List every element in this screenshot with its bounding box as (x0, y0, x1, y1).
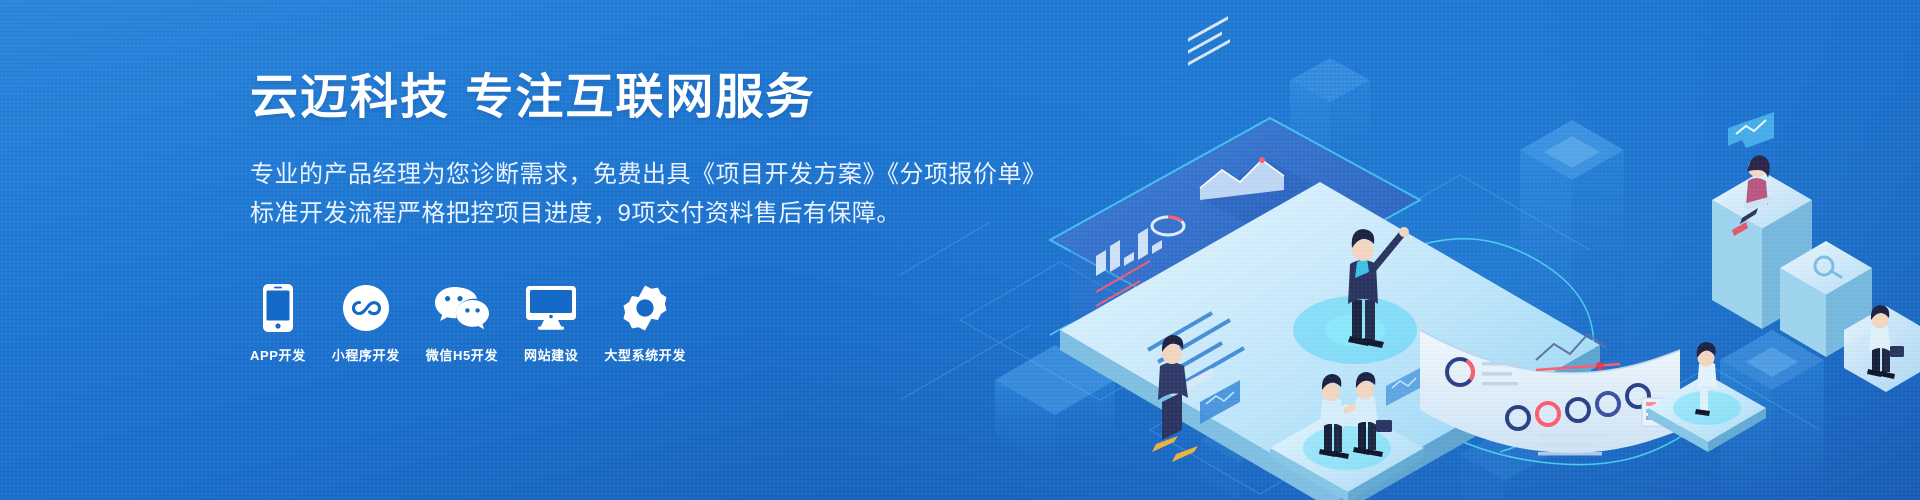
wechat-icon (434, 283, 490, 333)
chart-bubble (1728, 112, 1774, 148)
data-report-scroll (1420, 330, 1684, 456)
service-item-app[interactable]: APP开发 (250, 283, 306, 364)
gear-icon (622, 283, 668, 333)
isometric-city-buildings (995, 58, 1824, 500)
person-presenting (1348, 227, 1409, 348)
service-label: 小程序开发 (332, 345, 400, 364)
glowing-connection-paths (1050, 239, 1700, 465)
two-people-conversation (1270, 372, 1424, 500)
service-item-mini-program[interactable]: 小程序开发 (332, 283, 400, 364)
subtitle-line-2: 标准开发流程严格把控项目进度，9项交付资料售后有保障。 (250, 194, 1010, 234)
banner-subtitle: 专业的产品经理为您诊断需求，免费出具《项目开发方案》《分项报价单》 标准开发流程… (250, 155, 1010, 234)
woman-on-tablet-platform (1648, 342, 1766, 452)
person-with-laptop-on-pedestal (1152, 335, 1214, 462)
floating-dashboard-screen (1050, 0, 1420, 325)
floating-ui-chips (1200, 368, 1420, 424)
service-label: 大型系统开发 (604, 345, 686, 364)
hero-banner: 云迈科技 专注互联网服务 专业的产品经理为您诊断需求，免费出具《项目开发方案》《… (0, 0, 1920, 500)
ground-grid-lines (900, 175, 1820, 494)
banner-copy: 云迈科技 专注互联网服务 专业的产品经理为您诊断需求，免费出具《项目开发方案》《… (250, 70, 1010, 234)
service-item-large-system[interactable]: 大型系统开发 (604, 283, 686, 364)
woman-laptop-figure (1732, 155, 1774, 236)
mobile-phone-icon (263, 283, 293, 333)
service-label: APP开发 (250, 345, 306, 364)
mini-program-icon (343, 283, 389, 333)
service-label: 微信H5开发 (426, 345, 498, 364)
service-item-wechat-h5[interactable]: 微信H5开发 (426, 283, 498, 364)
illustration-svg (900, 0, 1920, 500)
service-label: 网站建设 (524, 345, 578, 364)
tablet-platform (1060, 182, 1600, 500)
magnifier-icon (1815, 257, 1841, 277)
page-title: 云迈科技 专注互联网服务 (250, 70, 1010, 127)
monitor-icon (526, 283, 576, 333)
service-item-website[interactable]: 网站建设 (524, 283, 578, 364)
service-list: APP开发 小程序开发 微信 (250, 283, 686, 364)
walking-person (1867, 305, 1904, 379)
isometric-illustration (900, 0, 1920, 500)
subtitle-line-1: 专业的产品经理为您诊断需求，免费出具《项目开发方案》《分项报价单》 (250, 155, 1010, 195)
stepped-platforms-with-magnifier (1712, 112, 1920, 392)
